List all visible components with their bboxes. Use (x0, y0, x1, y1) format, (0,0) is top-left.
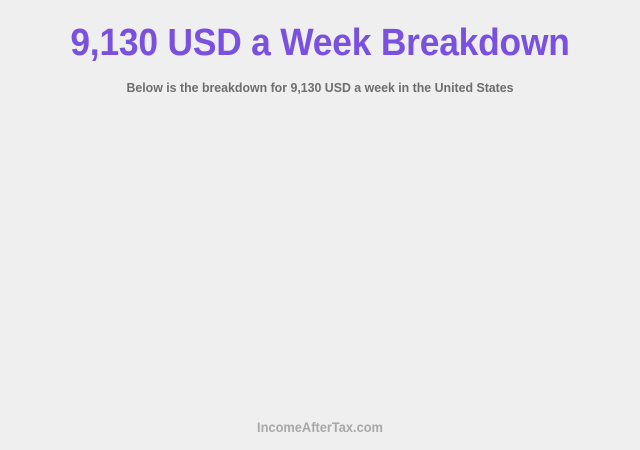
page-subtitle: Below is the breakdown for 9,130 USD a w… (16, 66, 624, 96)
page-title: 9,130 USD a Week Breakdown (22, 20, 617, 66)
site-watermark: IncomeAfterTax.com (16, 419, 624, 436)
page-footer: IncomeAfterTax.com (0, 419, 640, 450)
breakdown-page: 9,130 USD a Week Breakdown Below is the … (0, 0, 640, 450)
chart-plot-area (0, 96, 640, 419)
page-header: 9,130 USD a Week Breakdown Below is the … (0, 0, 640, 96)
